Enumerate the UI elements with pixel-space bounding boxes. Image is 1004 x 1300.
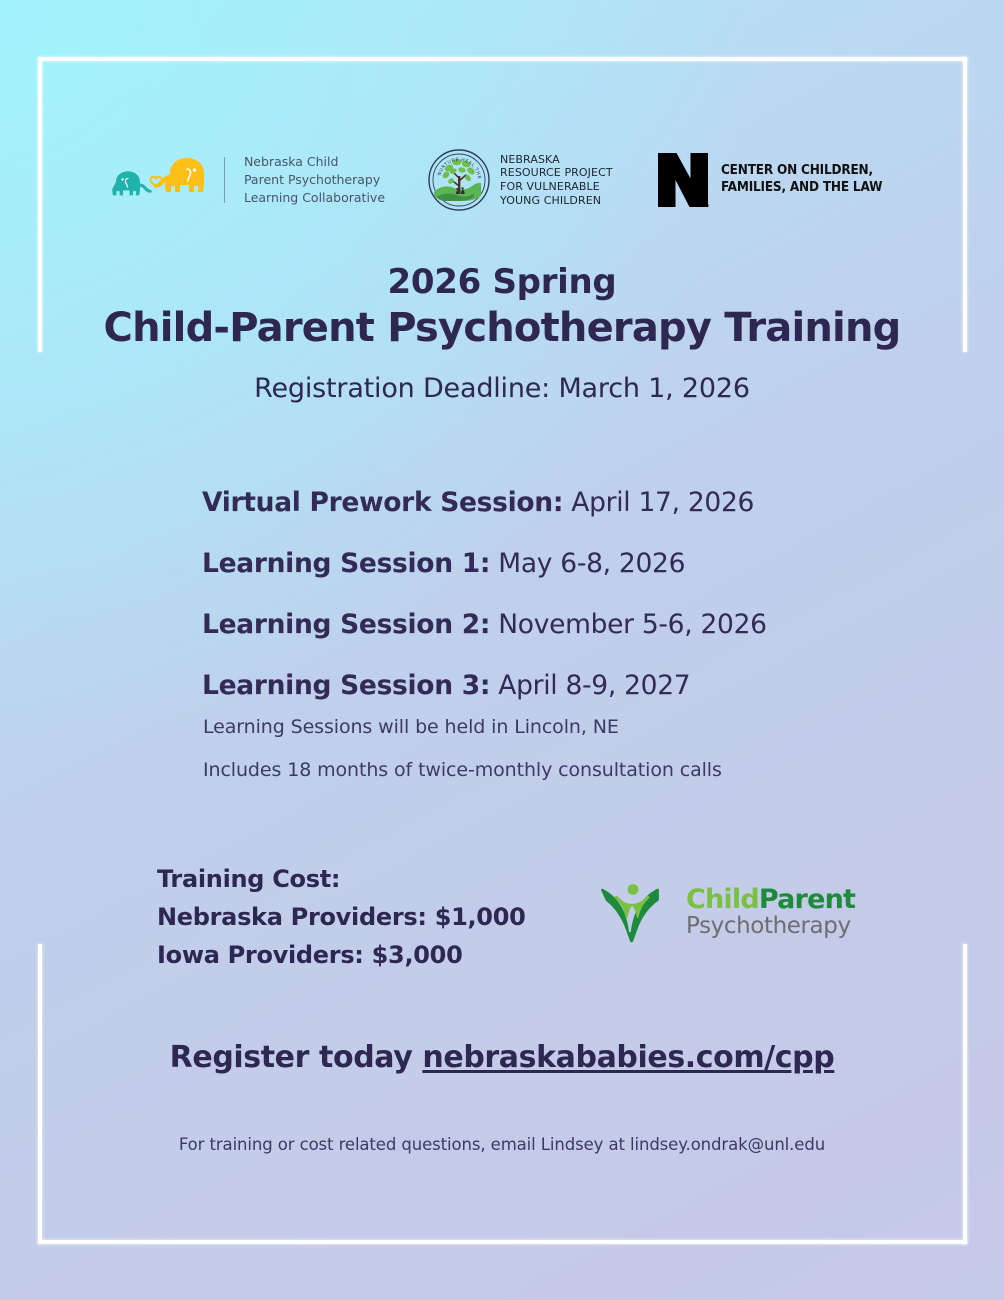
session-label: Learning Session 2: — [202, 609, 490, 640]
session-notes-list: Learning Sessions will be held in Lincol… — [203, 716, 943, 802]
session-label: Learning Session 3: — [202, 670, 490, 701]
logo-nrp-line-2: RESOURCE PROJECT — [500, 166, 613, 180]
frame-left-lower-edge — [38, 944, 42, 1244]
registration-link[interactable]: nebraskababies.com/cpp — [422, 1040, 834, 1075]
frame-right-lower-edge — [963, 944, 967, 1244]
register-call-to-action: Register today nebraskababies.com/cpp — [0, 1040, 1004, 1075]
contact-footer: For training or cost related questions, … — [0, 1135, 1004, 1154]
session-schedule-list: Virtual Prework Session: April 17, 2026 … — [202, 487, 942, 731]
child-in-heart-leaf-icon — [600, 876, 678, 948]
page-title: 2026 Spring Child-Parent Psychotherapy T… — [0, 262, 1004, 352]
logo-nrp-wordmark: NEBRASKA RESOURCE PROJECT FOR VULNERABLE… — [500, 153, 613, 208]
session-row: Learning Session 3: April 8-9, 2027 — [202, 670, 942, 701]
registration-deadline: Registration Deadline: March 1, 2026 — [0, 373, 1004, 404]
flyer-canvas: Nebraska Child Parent Psychotherapy Lear… — [0, 0, 1004, 1300]
cost-nebraska-providers: Nebraska Providers: $1,000 — [157, 899, 587, 937]
session-row: Learning Session 2: November 5-6, 2026 — [202, 609, 942, 640]
logo-ccfl-line-2: FAMILIES, AND THE LAW — [721, 180, 882, 197]
logo-divider-rule — [224, 157, 225, 203]
logo-child-parent-psychotherapy: ChildParent Psychotherapy — [600, 872, 850, 952]
logo-center-on-children-families-and-the-law: CENTER ON CHILDREN, FAMILIES, AND THE LA… — [655, 149, 894, 211]
cost-heading: Training Cost: — [157, 861, 587, 899]
tree-circle-emblem-icon: NURTURE HEAL THRIVE — [427, 148, 491, 212]
session-row: Learning Session 1: May 6-8, 2026 — [202, 548, 942, 579]
partner-logo-strip: Nebraska Child Parent Psychotherapy Lear… — [0, 138, 1004, 222]
session-row: Virtual Prework Session: April 17, 2026 — [202, 487, 942, 518]
logo-nrp-line-1: NEBRASKA — [500, 153, 613, 167]
note-location: Learning Sessions will be held in Lincol… — [203, 716, 943, 738]
session-date: April 8-9, 2027 — [498, 670, 690, 701]
logo-nebraska-resource-project-for-vulnerable-young-children: NURTURE HEAL THRIVE NEBRASKA RESOURCE PR… — [427, 148, 613, 212]
frame-bottom-edge — [38, 1240, 967, 1244]
session-label: Learning Session 1: — [202, 548, 490, 579]
cpp-wordmark-line-1: ChildParent — [686, 886, 855, 914]
session-label: Virtual Prework Session: — [202, 487, 563, 518]
title-line-program-name: Child-Parent Psychotherapy Training — [0, 304, 1004, 352]
cpp-word-psychotherapy: Psychotherapy — [686, 914, 855, 940]
title-line-year-season: 2026 Spring — [0, 262, 1004, 302]
training-cost-block: Training Cost: Nebraska Providers: $1,00… — [157, 861, 587, 975]
two-elephants-heart-icon — [110, 151, 214, 209]
cpp-word-parent: Parent — [759, 884, 855, 915]
cpp-word-child: Child — [686, 884, 759, 915]
logo-ccfl-wordmark: CENTER ON CHILDREN, FAMILIES, AND THE LA… — [721, 163, 882, 197]
session-date: May 6-8, 2026 — [498, 548, 685, 579]
cpp-wordmark: ChildParent Psychotherapy — [686, 884, 855, 940]
session-date: April 17, 2026 — [571, 487, 754, 518]
logo-ccfl-line-1: CENTER ON CHILDREN, — [721, 163, 882, 180]
session-date: November 5-6, 2026 — [498, 609, 766, 640]
logo-elephants-line-2: Parent Psychotherapy — [244, 171, 385, 189]
logo-elephants-line-3: Learning Collaborative — [244, 189, 385, 207]
note-consultation-calls: Includes 18 months of twice-monthly cons… — [203, 759, 943, 781]
cost-iowa-providers: Iowa Providers: $3,000 — [157, 937, 587, 975]
logo-elephants-line-1: Nebraska Child — [244, 153, 385, 171]
logo-elephants-wordmark: Nebraska Child Parent Psychotherapy Lear… — [235, 153, 385, 206]
register-prefix-text: Register today — [170, 1040, 423, 1075]
logo-nrp-line-3: FOR VULNERABLE — [500, 180, 613, 194]
logo-nrp-line-4: YOUNG CHILDREN — [500, 194, 613, 208]
nebraska-n-icon — [655, 149, 711, 211]
logo-nebraska-child-parent-psychotherapy-learning-collaborative: Nebraska Child Parent Psychotherapy Lear… — [110, 151, 385, 209]
frame-top-edge — [38, 57, 967, 61]
